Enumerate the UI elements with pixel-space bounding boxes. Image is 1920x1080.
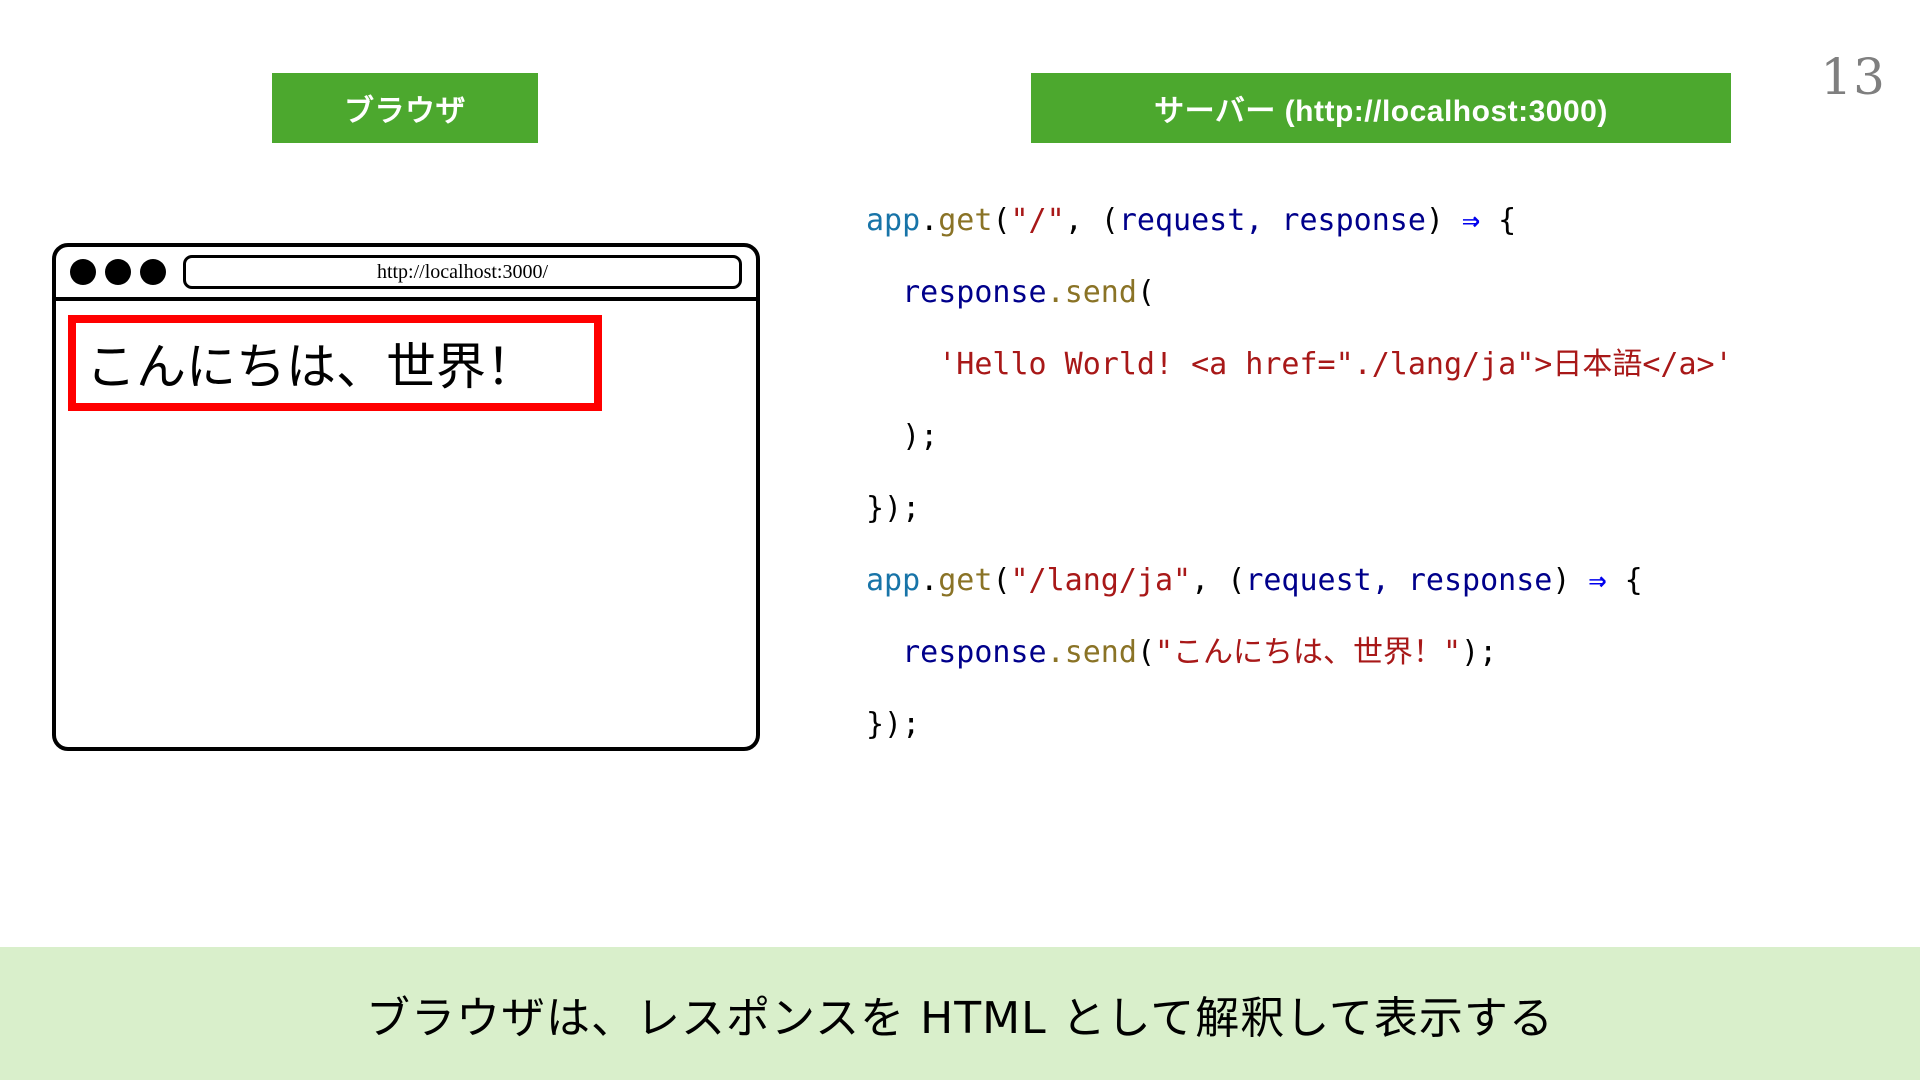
highlight-box: こんにちは、世界！: [68, 315, 602, 411]
code-token-punct: (: [992, 203, 1010, 238]
code-token-param: response: [902, 275, 1047, 310]
code-line: response.send(: [866, 257, 1733, 329]
code-token-method: send: [1065, 635, 1137, 670]
caption-bar: ブラウザは、レスポンスを HTML として解釈して表示する: [0, 947, 1920, 1080]
browser-chrome: http://localhost:3000/: [56, 247, 756, 301]
code-token-punct: , (: [1065, 203, 1119, 238]
badge-browser-label: ブラウザ: [344, 86, 466, 130]
badge-server-label: サーバー (http://localhost:3000): [1154, 86, 1608, 130]
code-token-punct: ): [1552, 563, 1588, 598]
code-token-str: 'Hello World! <a href="./lang/ja">日本語</a…: [938, 347, 1732, 382]
code-token-method: send: [1065, 275, 1137, 310]
code-token-punct: (: [1137, 275, 1155, 310]
code-line: );: [866, 401, 1733, 473]
code-line: app.get("/", (request, response) ⇒ {: [866, 185, 1733, 257]
code-token-param: request, response: [1245, 563, 1552, 598]
code-line: app.get("/lang/ja", (request, response) …: [866, 545, 1733, 617]
code-line: });: [866, 689, 1733, 761]
browser-window-mockup: http://localhost:3000/ こんにちは、世界！: [52, 243, 760, 751]
code-token-punct: (: [1137, 635, 1155, 670]
code-token-punct: (: [992, 563, 1010, 598]
code-token-method: get: [938, 203, 992, 238]
code-block: app.get("/", (request, response) ⇒ { res…: [866, 185, 1733, 761]
caption-text: ブラウザは、レスポンスを HTML として解釈して表示する: [366, 982, 1554, 1046]
code-token-param: response: [902, 635, 1047, 670]
code-token-punct: });: [866, 707, 920, 742]
code-token-punct: });: [866, 491, 920, 526]
window-dot-minimize-icon: [105, 259, 131, 285]
code-token-obj: app: [866, 563, 920, 598]
window-dot-maximize-icon: [140, 259, 166, 285]
code-token-punct: , (: [1191, 563, 1245, 598]
code-token-punct: {: [1480, 203, 1516, 238]
url-bar[interactable]: http://localhost:3000/: [183, 255, 742, 289]
code-token-arrow: ⇒: [1462, 203, 1480, 238]
badge-server: サーバー (http://localhost:3000): [1031, 73, 1731, 143]
code-token-method: .: [1047, 635, 1065, 670]
code-token-punct: .: [920, 203, 938, 238]
code-token-obj: app: [866, 203, 920, 238]
code-token-arrow: ⇒: [1588, 563, 1606, 598]
code-line: });: [866, 473, 1733, 545]
browser-viewport: こんにちは、世界！: [56, 301, 756, 747]
badge-browser: ブラウザ: [272, 73, 538, 143]
code-token-punct: .: [920, 563, 938, 598]
code-token-punct: ): [1426, 203, 1462, 238]
code-token-method: .: [1047, 275, 1065, 310]
window-dot-close-icon: [70, 259, 96, 285]
page-number: 13: [1820, 52, 1886, 102]
code-line: response.send("こんにちは、世界！");: [866, 617, 1733, 689]
code-token-str: "こんにちは、世界！": [1155, 635, 1461, 670]
code-line: 'Hello World! <a href="./lang/ja">日本語</a…: [866, 329, 1733, 401]
url-text: http://localhost:3000/: [377, 261, 548, 284]
code-token-punct: );: [1461, 635, 1497, 670]
rendered-page-text: こんにちは、世界！: [86, 325, 584, 409]
code-token-method: get: [938, 563, 992, 598]
code-token-param: request, response: [1119, 203, 1426, 238]
code-token-str: "/": [1011, 203, 1065, 238]
code-token-str: "/lang/ja": [1011, 563, 1192, 598]
code-token-punct: );: [902, 419, 938, 454]
code-token-punct: {: [1607, 563, 1643, 598]
